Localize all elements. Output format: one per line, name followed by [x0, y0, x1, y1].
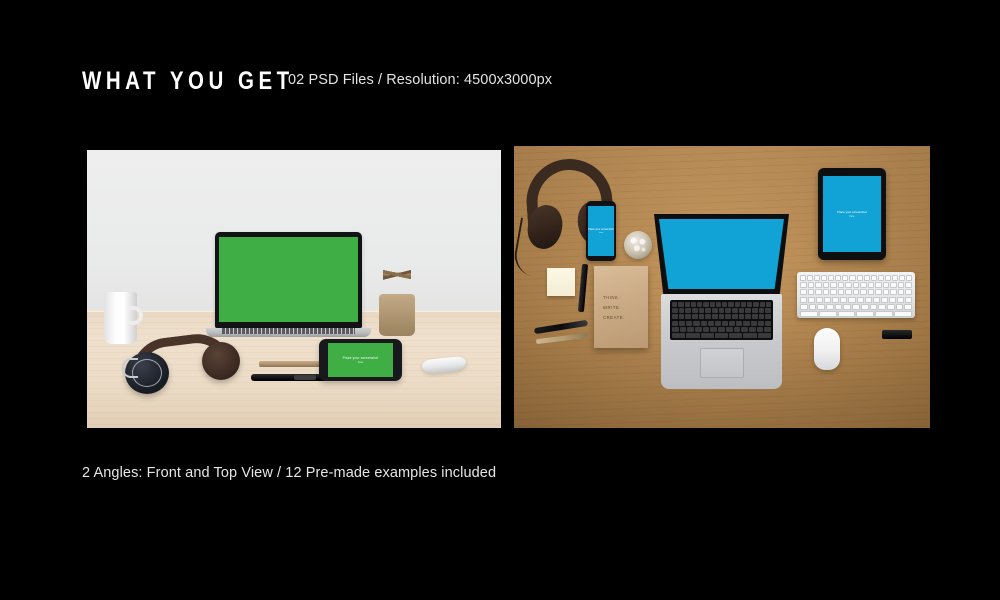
- keyboard-key: [672, 308, 678, 313]
- phone-screen-line2: here: [358, 361, 363, 364]
- keyboard-key: [800, 275, 806, 281]
- laptop-lid: [215, 232, 362, 328]
- keyboard-key: [672, 314, 678, 319]
- page-subtitle: 02 PSD Files / Resolution: 4500x3000px: [288, 72, 552, 88]
- keyboard-key: [712, 308, 718, 313]
- keyboard-key: [838, 282, 845, 288]
- keyboard-key: [860, 289, 867, 295]
- keyboard-key: [708, 321, 714, 326]
- keyboard-key: [715, 321, 721, 326]
- keyboard-key: [849, 275, 855, 281]
- tablet-blue-screen: Place your screenshot here: [823, 176, 881, 252]
- keyboard-key: [898, 289, 905, 295]
- notebook-line-3: CREATE.: [603, 315, 648, 320]
- keyboard-key: [732, 308, 738, 313]
- keyboard-key: [892, 275, 898, 281]
- keyboard-key: [800, 311, 818, 317]
- keyboard-key: [897, 297, 904, 303]
- mug-handle: [129, 306, 143, 325]
- phone-screen-line2: here: [599, 232, 603, 234]
- headphones-arm: [122, 358, 138, 378]
- keyboard-key: [853, 282, 860, 288]
- keyboard-key: [905, 289, 912, 295]
- keyboard-key: [828, 275, 834, 281]
- keyboard-key: [695, 327, 702, 332]
- keyboard-key: [835, 275, 841, 281]
- keyboard-key: [686, 321, 692, 326]
- notebook-line-2: WRITE.: [603, 305, 648, 310]
- keyboard-key: [835, 304, 843, 310]
- keyboard-key: [881, 297, 888, 303]
- phone-screen-line1: Place your screenshot: [343, 356, 379, 360]
- keyboard-key: [840, 297, 847, 303]
- keyboard-key: [823, 289, 830, 295]
- keyboard-key: [870, 304, 878, 310]
- keyboard-key: [697, 302, 702, 307]
- keyboard-key: [692, 308, 698, 313]
- keyboard-key: [878, 275, 884, 281]
- keyboard-row: [800, 304, 912, 310]
- laptop-trackpad-edge: [272, 334, 306, 336]
- keyboard-key: [687, 327, 694, 332]
- keyboard-key: [722, 302, 727, 307]
- keyboard-key: [905, 297, 912, 303]
- keyboard-key: [857, 297, 864, 303]
- keyboard-key: [716, 302, 721, 307]
- keyboard-key: [736, 321, 742, 326]
- keyboard-key: [745, 308, 751, 313]
- keyboard-key: [823, 282, 830, 288]
- page-title: WHAT YOU GET: [82, 64, 294, 98]
- keyboard-key: [679, 321, 685, 326]
- pen-band: [294, 375, 316, 380]
- laptop-lid: [654, 214, 789, 296]
- pencils: [383, 248, 411, 300]
- keyboard-key: [741, 327, 748, 332]
- laptop-trackpad: [700, 348, 744, 378]
- pencil-pot: [379, 294, 415, 336]
- keyboard-key: [800, 289, 807, 295]
- keyboard-key: [705, 308, 711, 313]
- keyboard-key: [800, 304, 808, 310]
- keyboard-key: [843, 304, 851, 310]
- keyboard-row: [672, 333, 771, 338]
- keyboard-key: [808, 282, 815, 288]
- keyboard-key: [749, 327, 756, 332]
- keyboard-key: [672, 327, 679, 332]
- keyboard-key: [758, 333, 771, 338]
- keyboard-key: [703, 302, 708, 307]
- keyboard-key: [710, 327, 717, 332]
- keyboard-key: [725, 314, 731, 319]
- keyboard-key: [732, 314, 738, 319]
- keyboard-key: [735, 302, 740, 307]
- keyboard-key: [764, 327, 771, 332]
- keyboard-key: [765, 308, 771, 313]
- keyboard-key: [878, 304, 886, 310]
- smartphone-front-view: Place your screenshot here: [319, 339, 402, 381]
- keyboard-key: [728, 302, 733, 307]
- keyboard-row: [800, 282, 912, 288]
- tablet-screen-line2: here: [850, 215, 855, 218]
- keyboard-key: [814, 275, 820, 281]
- keyboard-row: [800, 289, 912, 295]
- keyboard-key: [739, 308, 745, 313]
- laptop-front-view: [215, 232, 362, 337]
- keyboard-key: [861, 304, 869, 310]
- laptop-green-screen: [219, 237, 358, 322]
- keyboard-key: [816, 297, 823, 303]
- keyboard-key: [758, 321, 764, 326]
- keyboard-key: [680, 327, 687, 332]
- keyboard-row: [800, 311, 912, 317]
- keyboard-key: [743, 333, 756, 338]
- keyboard-key: [800, 297, 807, 303]
- keyboard-key: [865, 297, 872, 303]
- keyboard-key: [800, 282, 807, 288]
- keyboard-key: [672, 302, 677, 307]
- keyboard-key: [693, 321, 699, 326]
- keyboard-key: [734, 327, 741, 332]
- keyboard-key: [729, 321, 735, 326]
- tablet-top-view: Place your screenshot here: [818, 168, 886, 260]
- keyboard-key: [745, 314, 751, 319]
- laptop-top-view: [654, 214, 789, 389]
- headphone-earcup-right: [202, 342, 240, 380]
- keyboard-key: [705, 314, 711, 319]
- laptop-blue-screen: [659, 219, 784, 289]
- magic-mouse: [814, 328, 840, 370]
- keyboard-key: [817, 304, 825, 310]
- keyboard-key: [887, 304, 895, 310]
- keyboard-key: [678, 302, 683, 307]
- keyboard-key: [701, 333, 714, 338]
- keyboard-row: [672, 314, 771, 319]
- keyboard-key: [765, 314, 771, 319]
- keyboard-key: [739, 314, 745, 319]
- keyboard-key: [725, 308, 731, 313]
- keyboard-key: [875, 289, 882, 295]
- keyboard-key: [883, 282, 890, 288]
- keyboard-key: [821, 275, 827, 281]
- wireless-keyboard: [797, 272, 915, 318]
- keyboard-key: [845, 282, 852, 288]
- keyboard-key: [747, 302, 752, 307]
- keyboard-key: [856, 311, 874, 317]
- preview-front-view[interactable]: Place your screenshot here: [87, 150, 501, 428]
- keyboard-key: [759, 314, 765, 319]
- phone-blue-screen: Place your screenshot here: [588, 206, 614, 256]
- keyboard-key: [710, 302, 715, 307]
- keyboard-key: [760, 302, 765, 307]
- keyboard-row: [672, 327, 771, 332]
- keyboard-key: [752, 308, 758, 313]
- keyboard-key: [672, 333, 685, 338]
- keyboard-key: [753, 302, 758, 307]
- keyboard-key: [701, 321, 707, 326]
- keyboard-key: [692, 314, 698, 319]
- keyboard-key: [860, 282, 867, 288]
- laptop-keyboard: [670, 300, 773, 340]
- keyboard-key: [838, 289, 845, 295]
- keyboard-key: [726, 327, 733, 332]
- keyboard-key: [757, 327, 764, 332]
- keyboard-key: [871, 275, 877, 281]
- keyboard-key: [875, 311, 893, 317]
- keyboard-key: [719, 308, 725, 313]
- keyboard-key: [883, 289, 890, 295]
- gallery-caption: 2 Angles: Front and Top View / 12 Pre-ma…: [82, 465, 496, 481]
- keyboard-key: [807, 275, 813, 281]
- keyboard-key: [766, 302, 771, 307]
- keyboard-key: [685, 314, 691, 319]
- keyboard-key: [672, 321, 678, 326]
- keyboard-key: [685, 302, 690, 307]
- keyboard-key: [809, 304, 817, 310]
- keyboard-key: [890, 289, 897, 295]
- keyboard-key: [857, 275, 863, 281]
- keyboard-key: [679, 314, 685, 319]
- keyboard-key: [703, 327, 710, 332]
- keyboard-key: [848, 297, 855, 303]
- keyboard-key: [815, 282, 822, 288]
- keyboard-key: [824, 297, 831, 303]
- keyboard-key: [718, 327, 725, 332]
- keyboard-row: [800, 297, 912, 303]
- keyboard-key: [868, 289, 875, 295]
- keyboard-row: [672, 302, 771, 307]
- keyboard-key: [699, 308, 705, 313]
- keyboard-key: [686, 333, 699, 338]
- keyboard-key: [765, 321, 771, 326]
- keyboard-key: [838, 311, 856, 317]
- pencil-holder: [379, 248, 415, 336]
- keyboard-key: [852, 304, 860, 310]
- keyboard-key: [894, 311, 912, 317]
- keyboard-key: [832, 297, 839, 303]
- slide-root: WHAT YOU GET 02 PSD Files / Resolution: …: [0, 0, 1000, 600]
- keyboard-key: [830, 289, 837, 295]
- keyboard-key: [906, 275, 912, 281]
- keyboard-key: [853, 289, 860, 295]
- keyboard-key: [729, 333, 742, 338]
- keyboard-key: [864, 275, 870, 281]
- keyboard-key: [712, 314, 718, 319]
- keyboard-key: [842, 275, 848, 281]
- keyboard-key: [715, 333, 728, 338]
- usb-drive: [882, 330, 912, 339]
- keyboard-key: [699, 314, 705, 319]
- sticky-note: [547, 268, 575, 296]
- keyboard-key: [889, 297, 896, 303]
- keyboard-key: [885, 275, 891, 281]
- keyboard-key: [808, 297, 815, 303]
- phone-screen-line1: Place your screenshot: [588, 228, 614, 231]
- keyboard-key: [808, 289, 815, 295]
- keyboard-key: [896, 304, 904, 310]
- succulent-plant: [624, 231, 652, 259]
- keyboard-key: [905, 282, 912, 288]
- keyboard-key: [898, 282, 905, 288]
- keyboard-key: [830, 282, 837, 288]
- keyboard-key: [752, 314, 758, 319]
- notebook: THINK. WRITE. CREATE.: [594, 266, 648, 348]
- preview-top-view[interactable]: Place your screenshot here THINK. WRITE.…: [514, 146, 930, 428]
- keyboard-key: [741, 302, 746, 307]
- keyboard-key: [722, 321, 728, 326]
- keyboard-key: [819, 311, 837, 317]
- header: WHAT YOU GET 02 PSD Files / Resolution: …: [82, 64, 340, 98]
- laptop-body: [661, 294, 782, 389]
- keyboard-key: [890, 282, 897, 288]
- keyboard-row: [672, 308, 771, 313]
- keyboard-key: [826, 304, 834, 310]
- keyboard-key: [868, 282, 875, 288]
- phone-green-screen: Place your screenshot here: [328, 343, 393, 377]
- notebook-line-1: THINK.: [603, 295, 648, 300]
- headphones-front: [125, 336, 238, 398]
- keyboard-key: [751, 321, 757, 326]
- tablet-screen-line1: Place your screenshot: [837, 210, 867, 214]
- keyboard-key: [685, 308, 691, 313]
- keyboard-row: [800, 275, 912, 281]
- keyboard-key: [679, 308, 685, 313]
- keyboard-row: [672, 321, 771, 326]
- keyboard-key: [759, 308, 765, 313]
- keyboard-key: [873, 297, 880, 303]
- keyboard-key: [743, 321, 749, 326]
- keyboard-key: [875, 282, 882, 288]
- keyboard-key: [904, 304, 912, 310]
- keyboard-key: [845, 289, 852, 295]
- keyboard-key: [691, 302, 696, 307]
- keyboard-key: [899, 275, 905, 281]
- smartphone-top-view: Place your screenshot here: [586, 201, 616, 261]
- keyboard-key: [815, 289, 822, 295]
- keyboard-key: [719, 314, 725, 319]
